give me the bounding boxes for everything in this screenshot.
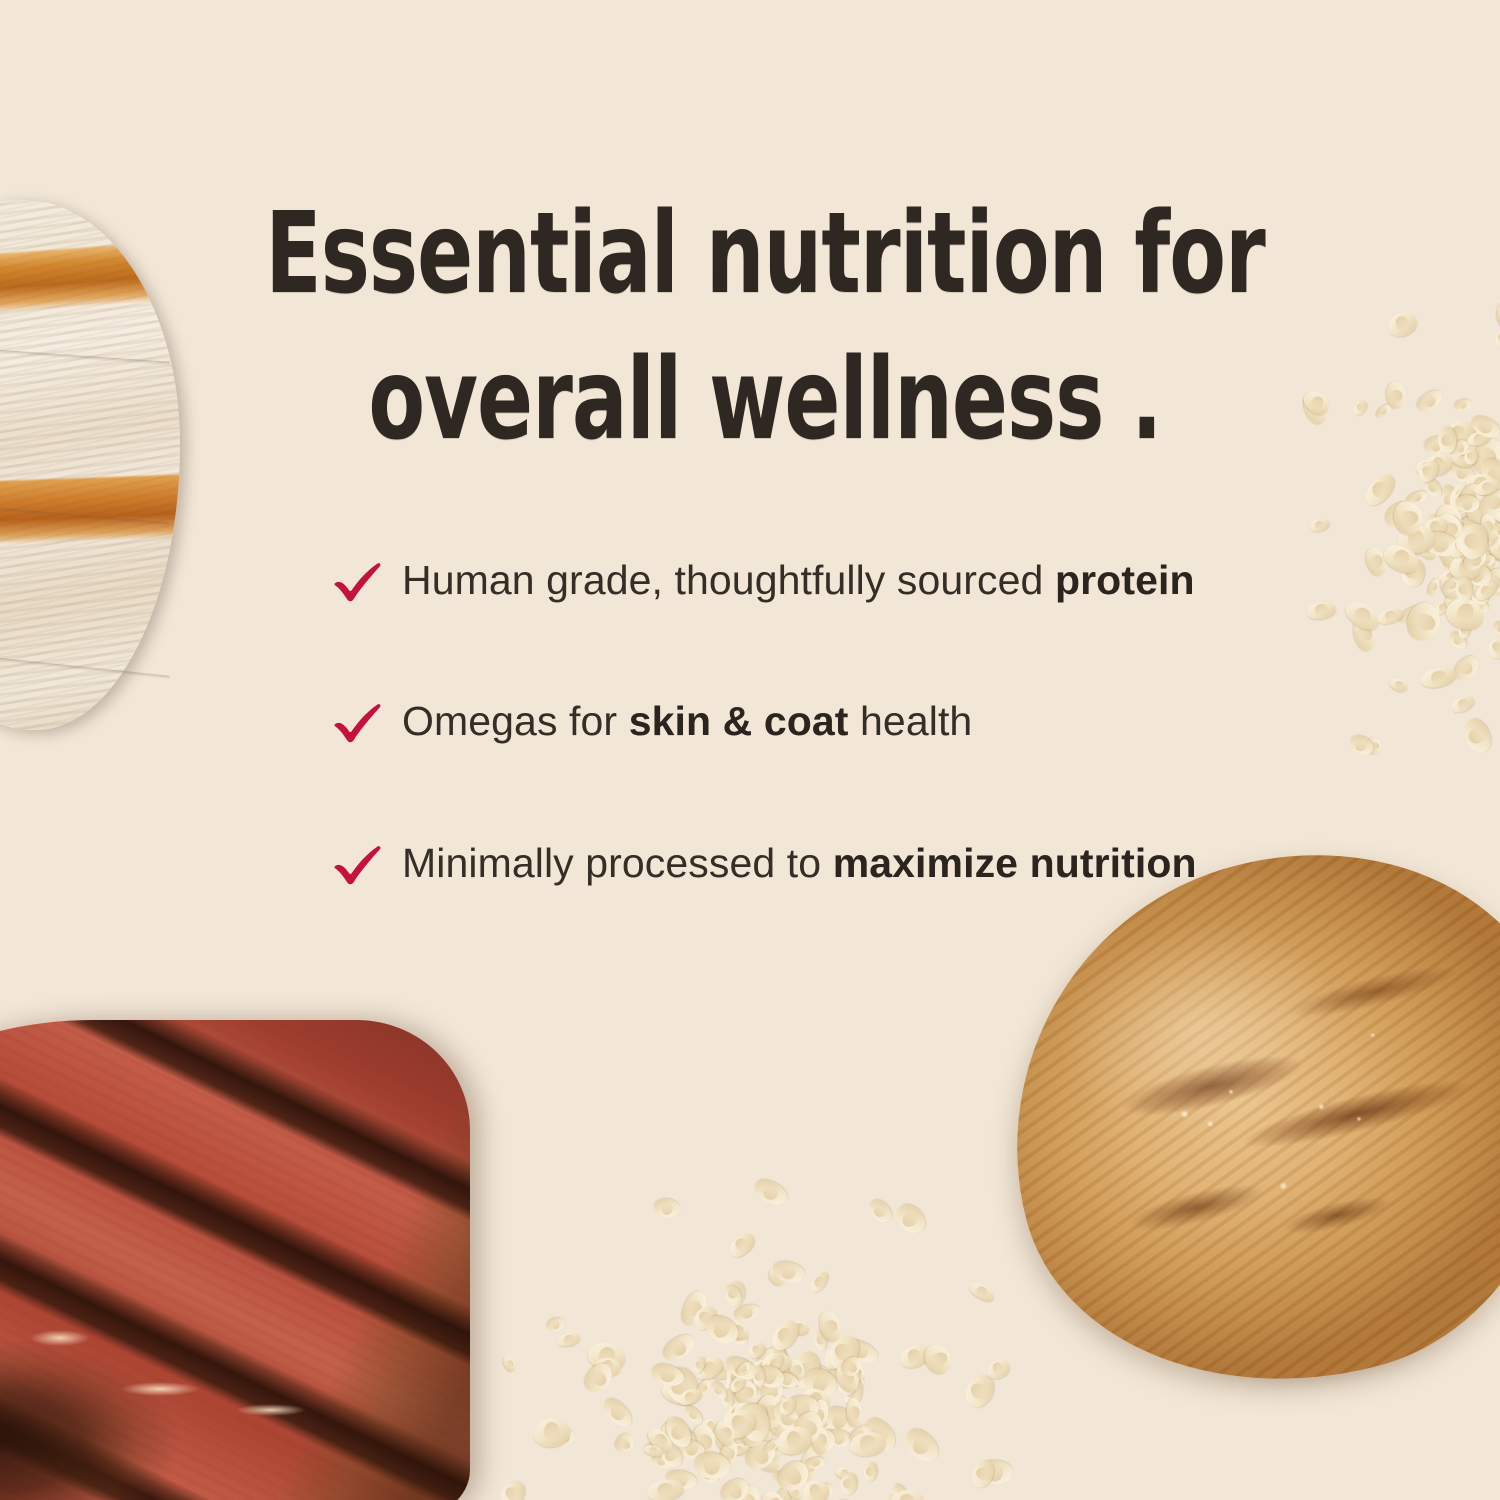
oat-flake: [1447, 629, 1470, 652]
oat-flake: [1444, 581, 1472, 611]
oat-flake: [748, 1400, 780, 1435]
oat-flake: [769, 1343, 788, 1365]
oat-flake: [1472, 579, 1499, 604]
oat-flake: [662, 1363, 704, 1409]
oat-flake: [1404, 488, 1428, 507]
oat-flake: [657, 1440, 686, 1471]
check-icon: [332, 558, 384, 604]
oat-flake: [1460, 544, 1491, 574]
check-icon: [332, 841, 384, 887]
oat-flake: [1490, 520, 1500, 542]
oat-flake: [820, 1401, 860, 1439]
beef-highlight: [30, 1330, 90, 1346]
oat-flake: [1385, 382, 1406, 410]
oat-flake: [750, 1175, 791, 1210]
oat-flake: [1468, 415, 1496, 441]
list-item: Minimally processed to maximize nutritio…: [332, 835, 1232, 892]
oat-flake: [1437, 531, 1468, 571]
oat-flake: [764, 1348, 803, 1393]
oat-flake: [739, 1406, 763, 1430]
oat-flake: [1443, 513, 1468, 542]
oat-flake: [734, 1360, 752, 1378]
oat-flake: [770, 1480, 802, 1500]
oat-flake: [1403, 599, 1444, 644]
oat-flake: [664, 1467, 698, 1492]
check-icon: [332, 699, 384, 745]
oat-flake: [729, 1326, 751, 1348]
oat-flake: [833, 1360, 863, 1398]
oat-flake: [1460, 490, 1488, 517]
oat-flake: [733, 1483, 764, 1500]
oat-flake: [736, 1400, 779, 1443]
oat-flake: [1443, 475, 1485, 519]
oat-flake: [749, 1414, 774, 1428]
oat-flake: [1466, 429, 1492, 448]
oat-flake: [650, 1451, 674, 1471]
oat-flake: [1423, 451, 1455, 479]
benefit-text-trail: health: [849, 698, 973, 744]
oat-flake: [1391, 499, 1424, 537]
oat-flake: [811, 1425, 830, 1456]
oat-flake: [733, 1412, 778, 1455]
oat-flake: [1432, 519, 1468, 559]
oat-flake: [788, 1398, 815, 1424]
oat-flake: [1437, 574, 1463, 603]
oat-flake: [805, 1456, 826, 1470]
oat-flake: [1483, 527, 1500, 569]
oat-flake: [804, 1396, 832, 1434]
oat-flake: [1414, 387, 1446, 415]
oat-flake: [641, 1441, 662, 1460]
oat-flake: [747, 1426, 771, 1447]
oat-flake: [768, 1396, 811, 1438]
rolled-oats-pile-image: [1285, 325, 1500, 745]
oat-flake: [708, 1363, 734, 1380]
benefit-text-lead: Minimally processed to: [402, 840, 833, 886]
oat-flake: [690, 1303, 721, 1335]
oat-flake: [719, 1404, 760, 1443]
oat-flake: [798, 1386, 833, 1416]
oat-flake: [745, 1437, 784, 1477]
oat-flake: [762, 1350, 786, 1376]
oat-flake: [712, 1418, 738, 1449]
oat-flake: [847, 1398, 862, 1427]
oat-flake: [811, 1411, 835, 1430]
oat-flake: [1492, 325, 1500, 350]
oat-flake: [858, 1412, 901, 1457]
oat-flake: [1496, 520, 1500, 563]
benefit-text-emphasis: maximize nutrition: [833, 840, 1197, 886]
oat-flake: [1456, 480, 1486, 510]
oat-flake: [810, 1481, 836, 1500]
oat-flake: [1487, 554, 1498, 574]
oat-flake: [1477, 535, 1500, 562]
oat-flake: [1347, 732, 1376, 759]
oat-flake: [835, 1465, 854, 1480]
oat-flake: [1496, 545, 1500, 564]
oat-flake: [1421, 514, 1447, 550]
oat-flake: [1459, 527, 1498, 558]
oat-flake: [746, 1419, 767, 1438]
oat-flake: [1468, 522, 1494, 550]
oat-flake: [1475, 485, 1500, 520]
oat-flake: [817, 1309, 845, 1345]
oat-flake: [1449, 693, 1477, 715]
oat-flake: [546, 1316, 566, 1333]
oat-flake: [751, 1433, 768, 1453]
oat-flake: [1440, 555, 1473, 579]
benefits-list: Human grade, thoughtfully sourced protei…: [332, 552, 1232, 892]
oat-flake: [739, 1403, 769, 1443]
oat-flake: [1456, 520, 1492, 562]
oat-flake: [891, 1482, 910, 1500]
oat-flake: [1388, 676, 1409, 694]
oat-flake: [1467, 412, 1500, 442]
oat-flake: [691, 1355, 707, 1374]
oat-flake: [701, 1419, 719, 1435]
benefit-text-emphasis: skin & coat: [629, 698, 849, 744]
oat-flake: [1465, 473, 1497, 495]
oat-flake: [749, 1344, 785, 1386]
oat-flake: [1476, 467, 1496, 492]
oat-flake: [967, 1279, 997, 1305]
oat-flake: [826, 1426, 853, 1449]
oat-flake: [727, 1372, 752, 1398]
oat-flake: [665, 1415, 685, 1440]
oat-flake: [693, 1425, 716, 1461]
oat-flake: [1380, 539, 1424, 578]
oat-flake: [1469, 524, 1481, 545]
oat-flake: [739, 1410, 772, 1451]
oat-flake: [1494, 481, 1500, 528]
oat-flake: [1399, 521, 1433, 550]
oat-flake: [797, 1448, 822, 1483]
oat-flake: [1438, 567, 1466, 587]
oat-flake: [771, 1258, 807, 1286]
oat-flake: [725, 1317, 753, 1343]
oat-flake: [1305, 600, 1337, 621]
oat-flake: [1300, 389, 1331, 427]
oat-flake: [839, 1471, 859, 1496]
oat-flake: [1455, 533, 1490, 570]
oat-flake: [762, 1408, 790, 1440]
oat-flake: [1476, 453, 1500, 495]
oat-flake: [1455, 550, 1488, 575]
oat-flake: [1455, 494, 1480, 514]
oat-flake: [755, 1394, 785, 1431]
oat-flake: [1450, 548, 1477, 572]
oat-flake: [1494, 300, 1500, 334]
oat-flake: [1445, 529, 1478, 561]
chicken-shadow: [1126, 1183, 1500, 1466]
oat-flake: [580, 1359, 618, 1397]
oat-flake: [1450, 652, 1484, 685]
oat-flake: [1374, 403, 1392, 421]
oat-flake: [1462, 521, 1482, 550]
oat-flake: [727, 1430, 755, 1451]
oat-flake: [823, 1330, 866, 1375]
oat-flake: [659, 1377, 701, 1410]
oat-flake: [1458, 513, 1487, 534]
oat-flake: [1440, 574, 1464, 596]
oat-flake: [557, 1330, 581, 1347]
list-item-label: Omegas for skin & coat health: [402, 698, 972, 744]
oat-flake: [676, 1387, 703, 1409]
oat-flake: [745, 1402, 770, 1432]
oat-flake: [1421, 475, 1444, 500]
oat-flake: [773, 1403, 805, 1430]
oat-flake: [738, 1410, 762, 1436]
chicken-gloss-overlay: [955, 800, 1500, 1440]
oat-flake: [1352, 615, 1380, 653]
oat-flake: [1479, 513, 1497, 541]
oat-flake: [1452, 517, 1464, 539]
oat-flake: [767, 1363, 788, 1389]
oat-flake: [799, 1364, 841, 1404]
oat-flake: [1446, 514, 1469, 539]
oat-flake: [1446, 458, 1478, 488]
oat-flake: [751, 1359, 776, 1378]
oat-flake: [777, 1394, 800, 1418]
oat-flake: [730, 1443, 746, 1454]
oat-flake: [733, 1378, 759, 1407]
oat-flake: [1476, 564, 1500, 600]
oat-flake: [1453, 514, 1496, 550]
oat-flake: [662, 1414, 695, 1452]
oat-flake: [1493, 534, 1500, 560]
oat-flake: [1440, 416, 1479, 452]
list-item: Omegas for skin & coat health: [332, 693, 1232, 750]
oat-flake: [783, 1365, 814, 1388]
oat-flake: [1466, 579, 1492, 608]
beef-highlight: [120, 1382, 200, 1396]
oat-flake: [692, 1353, 726, 1382]
oat-flake: [648, 1361, 686, 1391]
oat-flake: [762, 1437, 782, 1455]
oat-flake: [1464, 492, 1499, 532]
oat-flake: [727, 1408, 759, 1443]
oat-flake: [1467, 434, 1500, 479]
oat-flake: [968, 1457, 998, 1490]
oat-flake: [753, 1371, 786, 1399]
oat-flake: [659, 1417, 691, 1448]
oat-flake: [1400, 536, 1425, 560]
oat-flake: [644, 1424, 676, 1456]
oat-flake: [1486, 534, 1500, 567]
oat-flake: [732, 1302, 761, 1324]
oat-flake: [787, 1358, 806, 1383]
oat-flake: [657, 1419, 685, 1446]
list-item: Human grade, thoughtfully sourced protei…: [332, 552, 1232, 609]
list-item-label: Human grade, thoughtfully sourced protei…: [402, 557, 1195, 603]
oat-flake: [1451, 444, 1480, 469]
oat-flake: [659, 1331, 699, 1366]
oat-flake: [791, 1350, 822, 1391]
oat-flake: [741, 1436, 781, 1474]
list-item-label: Minimally processed to maximize nutritio…: [402, 840, 1197, 886]
oat-flake: [1458, 515, 1492, 552]
oat-flake: [892, 1199, 931, 1239]
oat-flake: [676, 1426, 699, 1451]
oat-flake: [717, 1474, 753, 1500]
oat-flake: [709, 1379, 729, 1401]
oat-flake: [752, 1366, 766, 1386]
oat-flake: [791, 1422, 813, 1448]
turkey-shadow: [0, 205, 220, 725]
oat-flake: [813, 1419, 839, 1444]
oat-flake: [766, 1264, 789, 1288]
oat-flake: [1443, 574, 1477, 602]
oat-flake: [1474, 502, 1494, 528]
oat-flake: [1491, 618, 1500, 637]
oat-flake: [960, 1370, 1000, 1412]
oat-flake: [808, 1268, 833, 1295]
oat-flake: [1367, 737, 1381, 754]
oat-flake: [553, 1428, 576, 1448]
oat-flake: [721, 1282, 743, 1306]
oat-flake: [754, 1415, 772, 1430]
beef-char-crust: [0, 1260, 270, 1500]
oat-flake: [785, 1395, 819, 1420]
oat-flake: [643, 1444, 664, 1459]
rolled-oats-scatter-image: [545, 1120, 945, 1500]
oat-flake: [758, 1486, 791, 1500]
oat-flake: [753, 1362, 787, 1392]
oat-flake: [813, 1329, 827, 1351]
oat-flake: [726, 1229, 759, 1261]
oat-flake: [1466, 488, 1500, 524]
oat-flake: [1496, 466, 1500, 500]
oat-flake: [1469, 596, 1491, 616]
oat-flake: [1458, 527, 1482, 562]
oat-flake: [758, 1378, 786, 1404]
oat-flake: [1385, 309, 1420, 340]
oat-flake: [1399, 556, 1427, 588]
oat-flake: [900, 1423, 944, 1468]
oat-flake: [1420, 514, 1450, 540]
oat-flake: [533, 1416, 572, 1449]
oat-flake: [771, 1470, 793, 1490]
oat-flake: [1493, 581, 1500, 598]
oat-flake: [1453, 440, 1475, 457]
oat-flake: [744, 1406, 776, 1438]
oat-flake: [772, 1456, 814, 1497]
oat-flake: [789, 1319, 810, 1336]
oat-flake: [1454, 434, 1470, 452]
oat-flake: [759, 1435, 786, 1463]
oat-flake: [766, 1316, 803, 1355]
oat-flake: [1450, 555, 1481, 581]
oat-flake: [1300, 386, 1334, 418]
oat-flake: [750, 1391, 793, 1428]
oat-flake: [1375, 606, 1405, 627]
oat-flake: [832, 1361, 863, 1396]
oat-flake: [1461, 559, 1494, 590]
oat-flake: [862, 1461, 879, 1483]
sliced-roast-turkey-image: [0, 200, 180, 730]
oat-flake: [1457, 621, 1472, 640]
oat-flake: [722, 1389, 734, 1409]
oat-flake: [1438, 483, 1464, 518]
oat-flake: [732, 1400, 759, 1425]
oat-flake: [746, 1339, 769, 1361]
oat-flake: [1351, 397, 1370, 416]
oat-flake: [731, 1416, 764, 1449]
oat-flake: [1426, 576, 1442, 596]
oat-flake: [1447, 569, 1482, 601]
oat-flake: [692, 1450, 732, 1482]
oat-flake: [801, 1427, 836, 1456]
oat-flake: [820, 1342, 853, 1373]
sliced-beef-steak-image: [0, 1020, 470, 1500]
oat-flake: [846, 1422, 872, 1446]
oat-flake: [1423, 435, 1450, 457]
oat-flake: [1442, 545, 1461, 558]
oat-flake: [765, 1342, 794, 1378]
oat-flake: [677, 1288, 711, 1330]
oat-flake: [1458, 520, 1497, 558]
oat-flake: [718, 1372, 761, 1409]
oat-flake: [789, 1407, 828, 1448]
oat-flake: [849, 1430, 888, 1458]
oat-flake: [1433, 598, 1455, 618]
oat-flake: [733, 1369, 763, 1399]
oat-flake: [750, 1440, 771, 1462]
oat-flake: [897, 1341, 932, 1371]
turkey-grain-overlay: [0, 200, 180, 730]
oat-flake: [1484, 632, 1500, 661]
oat-flake: [1447, 545, 1484, 574]
oat-flake: [728, 1374, 749, 1394]
oat-flake: [723, 1353, 761, 1385]
oat-flake: [841, 1376, 864, 1407]
oat-flake: [682, 1403, 705, 1426]
oat-flake: [1431, 516, 1477, 562]
oat-flake: [708, 1417, 750, 1462]
oat-flake: [795, 1364, 829, 1390]
oat-flake: [774, 1370, 800, 1391]
oat-flake: [600, 1393, 637, 1431]
oat-flake: [496, 1476, 529, 1500]
oat-flake: [1467, 512, 1498, 536]
oat-flake: [1464, 497, 1497, 538]
oat-flake: [1443, 593, 1463, 614]
oat-flake: [774, 1397, 815, 1434]
oat-flake: [1449, 482, 1478, 514]
oat-flake: [1462, 447, 1480, 467]
oat-flake: [1455, 577, 1473, 603]
oat-flake: [1440, 525, 1478, 551]
oat-flake: [865, 1195, 896, 1226]
oat-flake: [1477, 513, 1498, 533]
oat-flake: [695, 1462, 721, 1487]
oat-flake: [1452, 527, 1481, 556]
oat-flake: [1453, 399, 1472, 414]
oat-flake: [888, 1488, 925, 1500]
oat-flake: [1442, 593, 1488, 635]
oat-flake: [1420, 527, 1461, 560]
oat-flake: [1418, 544, 1437, 561]
oat-flake: [676, 1436, 707, 1462]
oat-flake: [1363, 545, 1389, 578]
oat-flake: [1397, 525, 1435, 555]
oat-flake: [1432, 511, 1465, 548]
benefit-text-emphasis: protein: [1055, 557, 1195, 603]
oat-flake: [799, 1477, 832, 1500]
oat-flake: [740, 1404, 766, 1431]
oat-flake: [786, 1484, 803, 1500]
oat-flake: [701, 1310, 743, 1350]
